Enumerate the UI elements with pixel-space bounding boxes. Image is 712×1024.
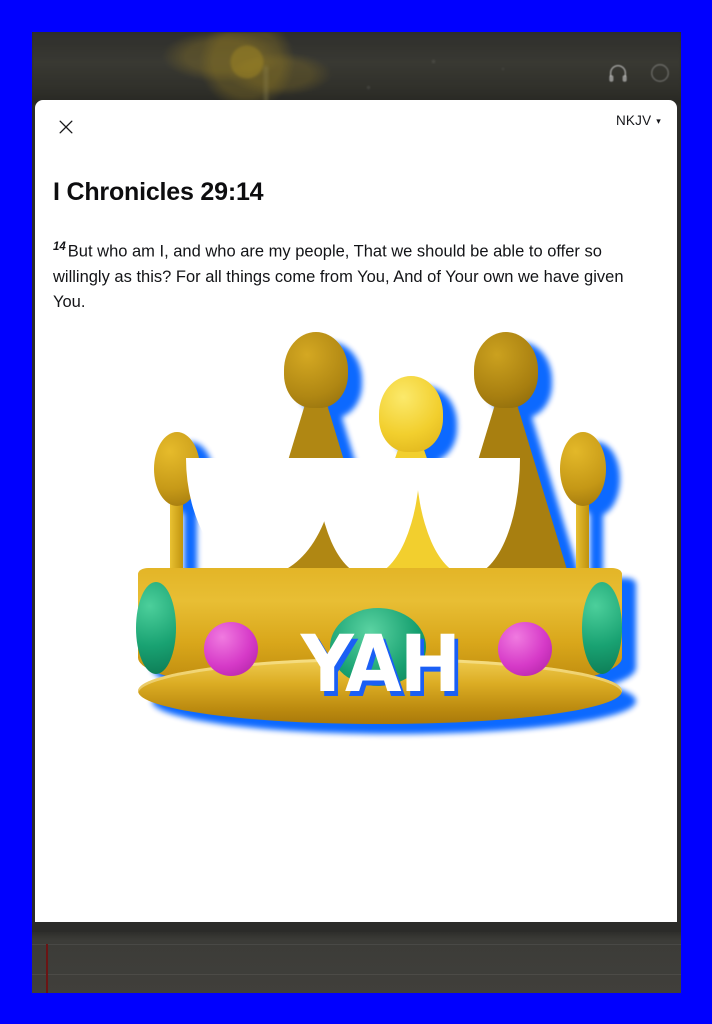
translation-selector[interactable]: NKJV ▾ (616, 113, 661, 128)
verse-body: I Chronicles 29:14 14But who am I, and w… (35, 152, 677, 315)
verse-sentence: But who am I, and who are my people, Tha… (53, 243, 624, 311)
hero-speck (432, 60, 435, 63)
screen-frame: NKJV ▾ I Chronicles 29:14 14But who am I… (0, 0, 712, 1024)
modal-topbar: NKJV ▾ (35, 100, 677, 152)
crown-image: YAH (35, 322, 677, 792)
verse-number: 14 (53, 241, 66, 253)
translation-label: NKJV (616, 113, 651, 128)
backdrop-list-area (32, 932, 681, 993)
hero-speck (502, 68, 504, 70)
chevron-down-icon: ▾ (656, 117, 661, 126)
hero-speck (367, 86, 370, 89)
headphones-icon[interactable] (607, 62, 629, 89)
verse-modal: NKJV ▾ I Chronicles 29:14 14But who am I… (35, 100, 677, 922)
verse-reference: I Chronicles 29:14 (53, 178, 659, 207)
close-button[interactable] (49, 110, 83, 144)
backdrop-accent-rule (46, 944, 48, 993)
crown-wordmark: YAH (145, 626, 615, 704)
backdrop-row-divider (32, 974, 681, 975)
sunflower-hero-image (32, 32, 681, 104)
close-icon (56, 117, 76, 137)
backdrop-row-divider (32, 944, 681, 945)
verse-text: 14But who am I, and who are my people, T… (53, 235, 653, 315)
crown-stage: YAH (130, 340, 630, 770)
circle-icon[interactable] (649, 62, 671, 89)
